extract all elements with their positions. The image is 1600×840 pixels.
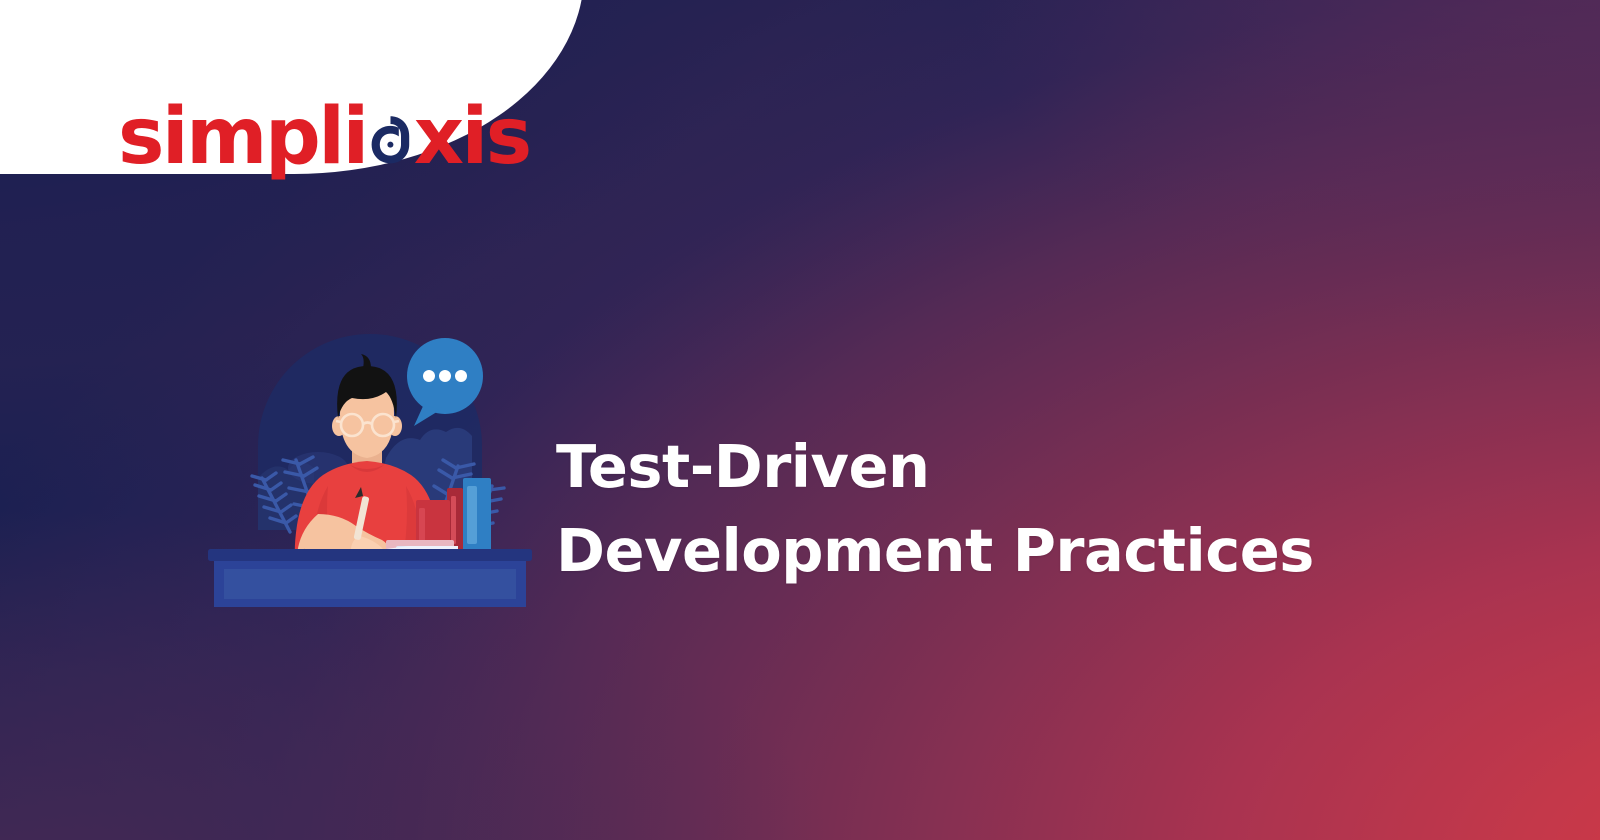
bubble-dot — [439, 370, 451, 382]
brand-logo-text: simpli xis — [118, 98, 530, 176]
headline-line-2: Development Practices — [556, 509, 1314, 593]
bubble-dot — [423, 370, 435, 382]
circular-a-mark-icon — [364, 113, 416, 165]
headline-line-1: Test-Driven — [556, 425, 1314, 509]
blog-banner: simpli xis — [0, 0, 1600, 840]
brand-logo-text-part1: simpli — [118, 98, 367, 176]
brand-logo[interactable]: simpli xis — [118, 98, 530, 176]
brand-logo-text-part2: xis — [414, 98, 530, 176]
student-writing-at-desk-illustration — [200, 318, 540, 610]
desk — [208, 549, 532, 607]
bubble-dot — [455, 370, 467, 382]
page-title: Test-Driven Development Practices — [556, 425, 1314, 593]
